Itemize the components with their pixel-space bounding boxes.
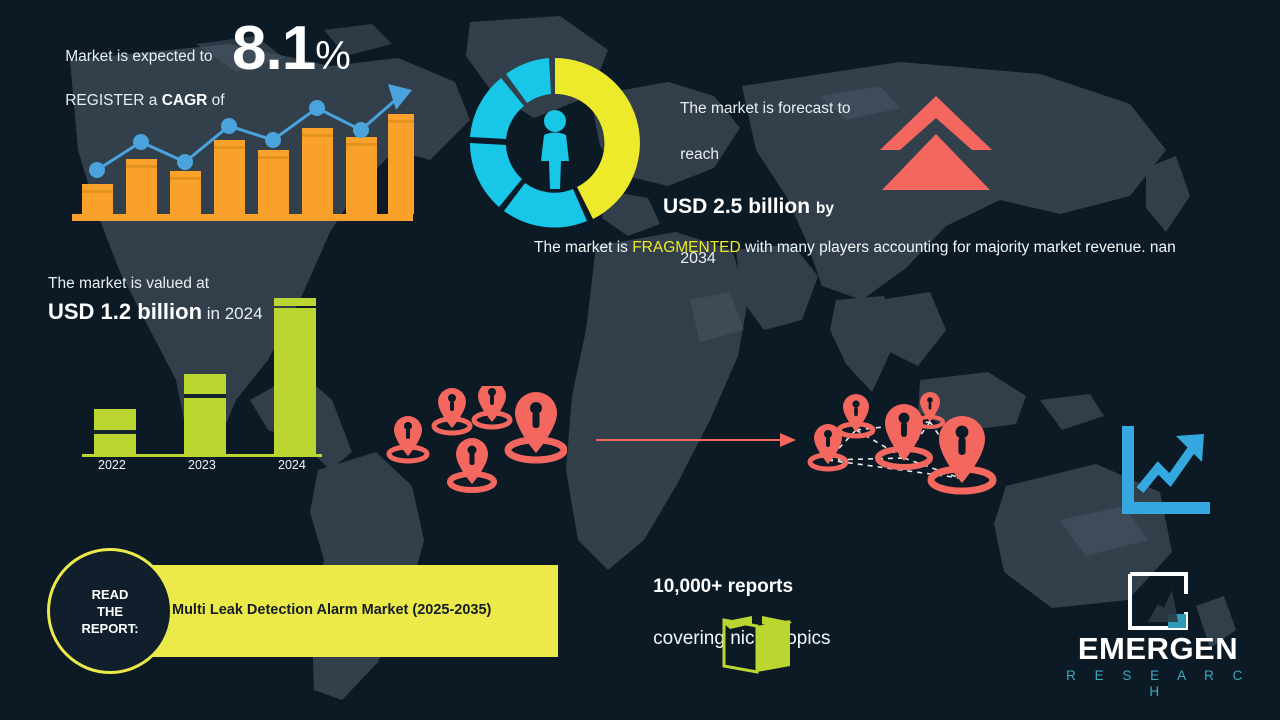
person-icon <box>541 110 569 189</box>
fragmented-market-pins <box>382 386 567 496</box>
infographic-canvas: Market is expected to REGISTER a CAGR of… <box>0 0 1280 720</box>
upward-chevron-icon <box>876 92 996 192</box>
forecast-value: USD 2.5 billion <box>663 195 810 218</box>
green-chart-label-2022: 2022 <box>98 458 126 472</box>
logo-subtitle: R E S E A R C H <box>1060 668 1256 700</box>
green-chart-label-2024: 2024 <box>278 458 306 472</box>
logo-wordmark: EMERGEN <box>1060 632 1256 666</box>
cagr-value: 8.1% <box>232 18 350 87</box>
forecast-line-2: reach <box>680 146 719 163</box>
read-report-button[interactable]: READ THE REPORT: <box>47 548 173 674</box>
forecast-by-word: by <box>816 200 834 217</box>
reports-count-value: 10,000+ reports <box>653 576 793 597</box>
forecast-value-line: USD 2.5 billion by <box>663 192 893 224</box>
cagr-line-1: Market is expected to <box>65 48 212 65</box>
historic-market-value-chart: 2022 2023 2024 <box>78 290 328 475</box>
fragmentation-prefix: The market is <box>534 239 632 256</box>
green-chart-label-2023: 2023 <box>188 458 216 472</box>
fragmentation-highlight: FRAGMENTED <box>632 239 741 256</box>
cagr-percent-sign: % <box>315 34 350 78</box>
forecast-caption: The market is forecast to reach USD 2.5 … <box>663 74 893 293</box>
report-title[interactable]: Multi Leak Detection Alarm Market (2025-… <box>172 602 491 618</box>
fragmentation-suffix: with many players accounting for majorit… <box>741 239 1176 256</box>
growth-chart-icon <box>1118 424 1210 516</box>
logo-mark-icon <box>1128 572 1188 630</box>
growth-trend-chart <box>70 78 415 228</box>
read-report-label: READ THE REPORT: <box>81 586 138 637</box>
cagr-number: 8.1 <box>232 14 315 83</box>
consolidated-market-pins <box>800 386 1000 501</box>
market-share-donut-chart <box>460 48 650 238</box>
emergen-research-logo: EMERGEN R E S E A R C H <box>1060 572 1256 694</box>
forecast-line-1: The market is forecast to <box>680 100 851 117</box>
fragmentation-statement: The market is FRAGMENTED with many playe… <box>534 236 1212 260</box>
open-book-icon <box>718 612 796 674</box>
transition-arrow-icon <box>596 428 796 452</box>
